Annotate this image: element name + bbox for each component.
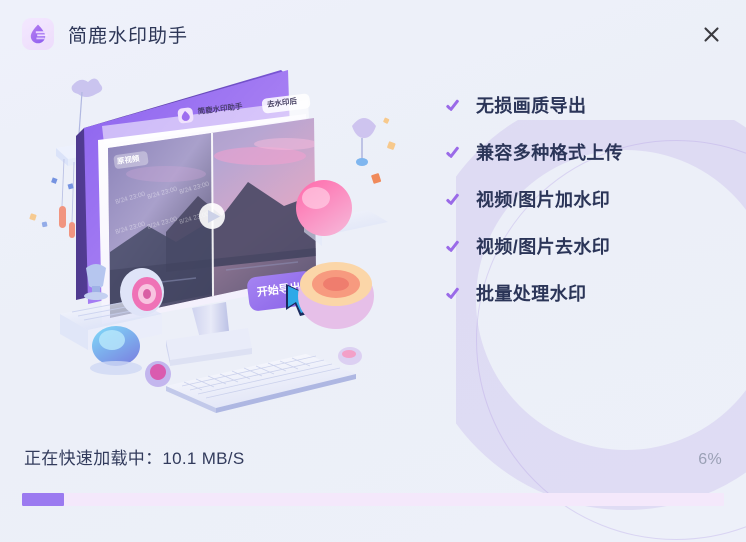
decor-cone (352, 118, 376, 166)
desktop-computer-illustration: 8/24 23:00 8/24 23:00 8/24 23:00 8/24 23… (16, 56, 416, 416)
feature-label: 视频/图片加水印 (476, 186, 610, 212)
keyboard (166, 354, 356, 413)
feature-item: 视频/图片加水印 (446, 186, 726, 212)
feature-item: 批量处理水印 (446, 280, 726, 306)
feature-item: 视频/图片去水印 (446, 233, 726, 259)
status-message: 正在快速加载中：10.1 MB/S (24, 444, 244, 469)
decor-blob-blue (90, 326, 142, 375)
feature-label: 视频/图片去水印 (476, 233, 610, 259)
droplet-logo-icon (22, 18, 54, 50)
decor-spiral (120, 268, 164, 316)
close-icon (703, 26, 720, 43)
download-status-bar: 正在快速加载中：10.1 MB/S 6% (0, 428, 746, 542)
feature-item: 兼容多种格式上传 (446, 139, 726, 165)
status-row: 正在快速加载中：10.1 MB/S 6% (24, 444, 722, 469)
installer-window: 简鹿水印助手 (0, 0, 746, 542)
title-bar: 简鹿水印助手 (0, 0, 746, 68)
feature-label: 批量处理水印 (476, 280, 586, 306)
feature-label: 无损画质导出 (476, 92, 586, 118)
check-icon (446, 285, 462, 301)
progress-bar-fill (22, 493, 64, 506)
decor-ball-small (338, 347, 362, 365)
progress-percent-label: 6% (698, 451, 722, 469)
decor-bowl-orange (298, 262, 374, 329)
feature-item: 无损画质导出 (446, 92, 726, 118)
feature-list: 无损画质导出 兼容多种格式上传 视频/图片加水印 视频/图片去水印 批量处理水印 (446, 92, 726, 306)
check-icon (446, 238, 462, 254)
check-icon (446, 97, 462, 113)
decor-ball-pink (296, 180, 352, 236)
close-button[interactable] (694, 17, 728, 51)
progress-bar-track (22, 493, 724, 506)
main-content: 8/24 23:00 8/24 23:00 8/24 23:00 8/24 23… (0, 60, 746, 428)
decor-ball-purple (145, 361, 171, 387)
feature-label: 兼容多种格式上传 (476, 139, 623, 165)
play-icon (199, 203, 225, 229)
check-icon (446, 191, 462, 207)
app-title: 简鹿水印助手 (68, 21, 188, 48)
check-icon (446, 144, 462, 160)
